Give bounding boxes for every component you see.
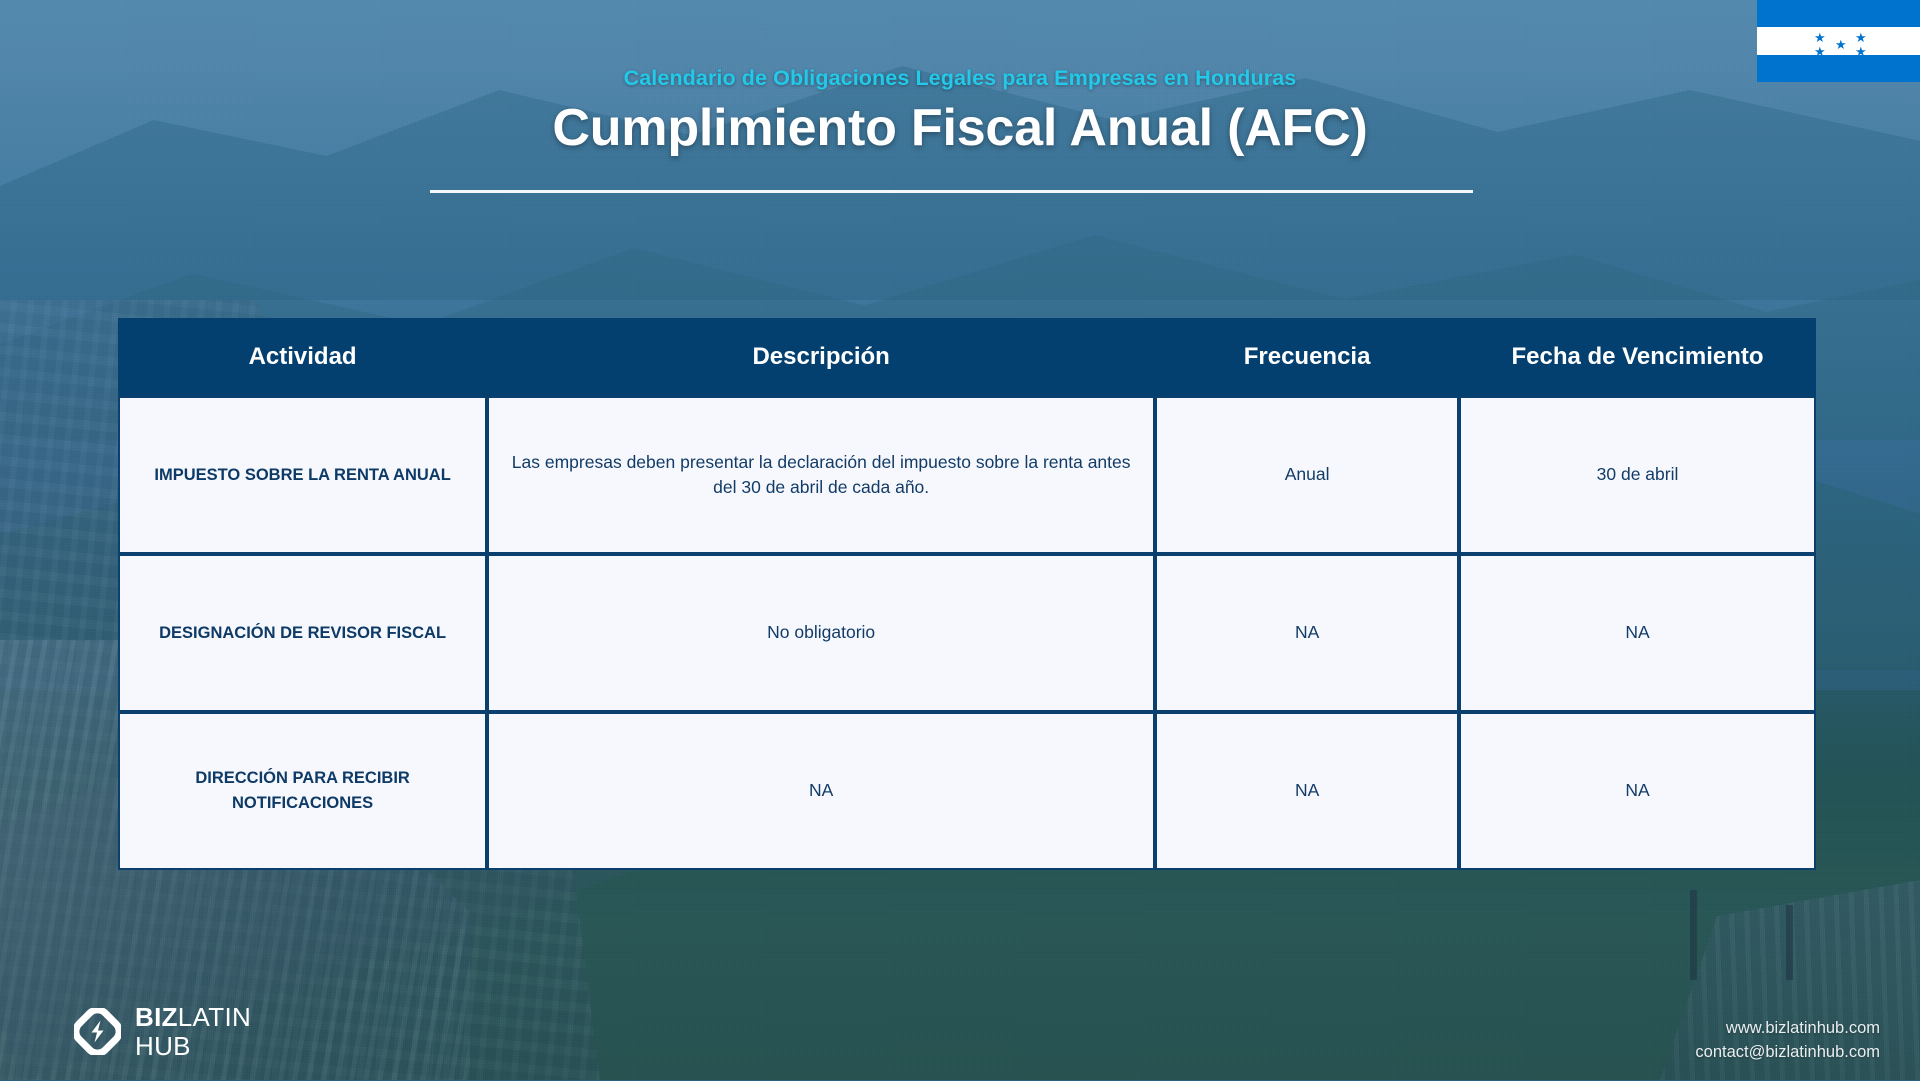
page-subtitle: Calendario de Obligaciones Legales para …: [0, 66, 1920, 91]
cell-descripcion: No obligatorio: [487, 554, 1155, 712]
bizlatinhub-wordmark: BIZLATIN HUB: [135, 1004, 251, 1059]
table-row: DESIGNACIÓN DE REVISOR FISCAL No obligat…: [118, 554, 1816, 712]
bizlatinhub-badge-icon: [74, 1008, 121, 1055]
website-url[interactable]: www.bizlatinhub.com: [1695, 1017, 1880, 1041]
bizlatinhub-logo[interactable]: BIZLATIN HUB: [74, 1004, 251, 1059]
compliance-table-container: Actividad Descripción Frecuencia Fecha d…: [118, 318, 1816, 870]
cell-vencimiento: 30 de abril: [1459, 396, 1816, 554]
table-row: DIRECCIÓN PARA RECIBIR NOTIFICACIONES NA…: [118, 712, 1816, 870]
flag-star-top-right: ★: [1855, 31, 1867, 44]
flag-star-center: ★: [1835, 38, 1847, 51]
column-header-frecuencia: Frecuencia: [1155, 318, 1459, 396]
table-row: IMPUESTO SOBRE LA RENTA ANUAL Las empres…: [118, 396, 1816, 554]
cell-frecuencia: NA: [1155, 712, 1459, 870]
email-address[interactable]: contact@bizlatinhub.com: [1695, 1041, 1880, 1065]
logo-brand-light: LATIN: [178, 1002, 251, 1032]
header: Calendario de Obligaciones Legales para …: [0, 66, 1920, 158]
table-body: IMPUESTO SOBRE LA RENTA ANUAL Las empres…: [118, 396, 1816, 870]
cell-actividad: DIRECCIÓN PARA RECIBIR NOTIFICACIONES: [118, 712, 487, 870]
cell-actividad: IMPUESTO SOBRE LA RENTA ANUAL: [118, 396, 487, 554]
contact-info: www.bizlatinhub.com contact@bizlatinhub.…: [1695, 1017, 1880, 1065]
compliance-table: Actividad Descripción Frecuencia Fecha d…: [118, 318, 1816, 870]
logo-brand-line2: HUB: [135, 1033, 251, 1059]
column-header-actividad: Actividad: [118, 318, 487, 396]
page-title: Cumplimiento Fiscal Anual (AFC): [0, 98, 1920, 158]
table-header-row: Actividad Descripción Frecuencia Fecha d…: [118, 318, 1816, 396]
cell-vencimiento: NA: [1459, 554, 1816, 712]
flag-star-top-left: ★: [1814, 31, 1826, 44]
cell-descripcion: NA: [487, 712, 1155, 870]
table-header: Actividad Descripción Frecuencia Fecha d…: [118, 318, 1816, 396]
cell-vencimiento: NA: [1459, 712, 1816, 870]
cell-actividad: DESIGNACIÓN DE REVISOR FISCAL: [118, 554, 487, 712]
title-underline: [430, 190, 1473, 193]
flag-star-bottom-right: ★: [1855, 45, 1867, 58]
logo-brand-bold: BIZ: [135, 1002, 178, 1032]
column-header-vencimiento: Fecha de Vencimiento: [1459, 318, 1816, 396]
flag-stripe-top: [1757, 0, 1920, 27]
flag-star-bottom-left: ★: [1814, 45, 1826, 58]
column-header-descripcion: Descripción: [487, 318, 1155, 396]
cell-frecuencia: NA: [1155, 554, 1459, 712]
cell-descripcion: Las empresas deben presentar la declarac…: [487, 396, 1155, 554]
cell-frecuencia: Anual: [1155, 396, 1459, 554]
